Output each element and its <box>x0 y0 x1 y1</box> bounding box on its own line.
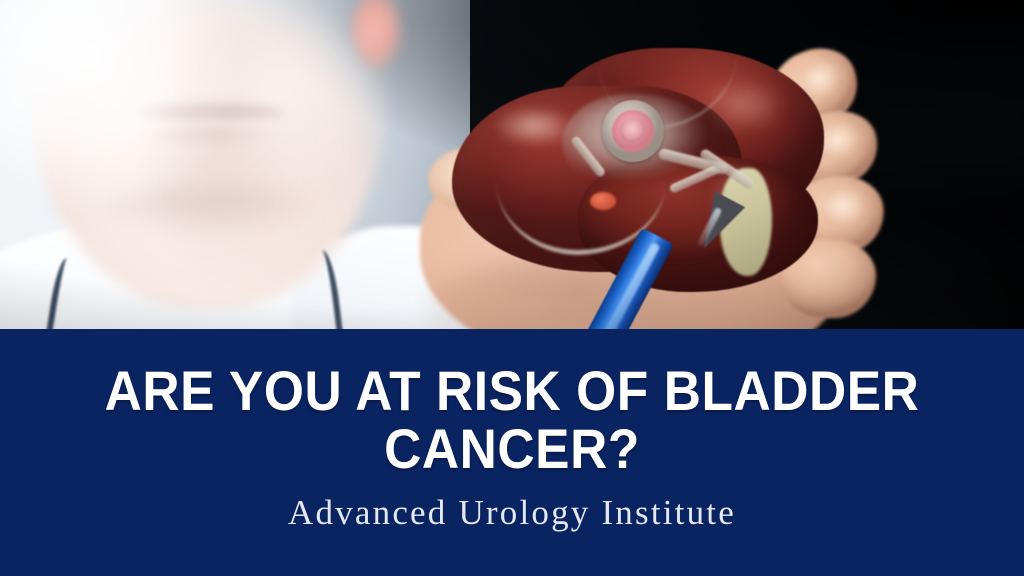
promotional-banner-image: ARE YOU AT RISK OF BLADDER CANCER? Advan… <box>0 0 1024 576</box>
hero-photograph <box>0 0 1024 330</box>
organ-nodule <box>590 192 616 210</box>
banner-headline: ARE YOU AT RISK OF BLADDER CANCER? <box>41 362 983 478</box>
navy-text-banner: ARE YOU AT RISK OF BLADDER CANCER? Advan… <box>0 329 1024 576</box>
lens-glare-secondary <box>120 0 440 240</box>
banner-subtitle-brand: Advanced Urology Institute <box>0 493 1024 533</box>
organ-vessel-core <box>620 118 646 144</box>
